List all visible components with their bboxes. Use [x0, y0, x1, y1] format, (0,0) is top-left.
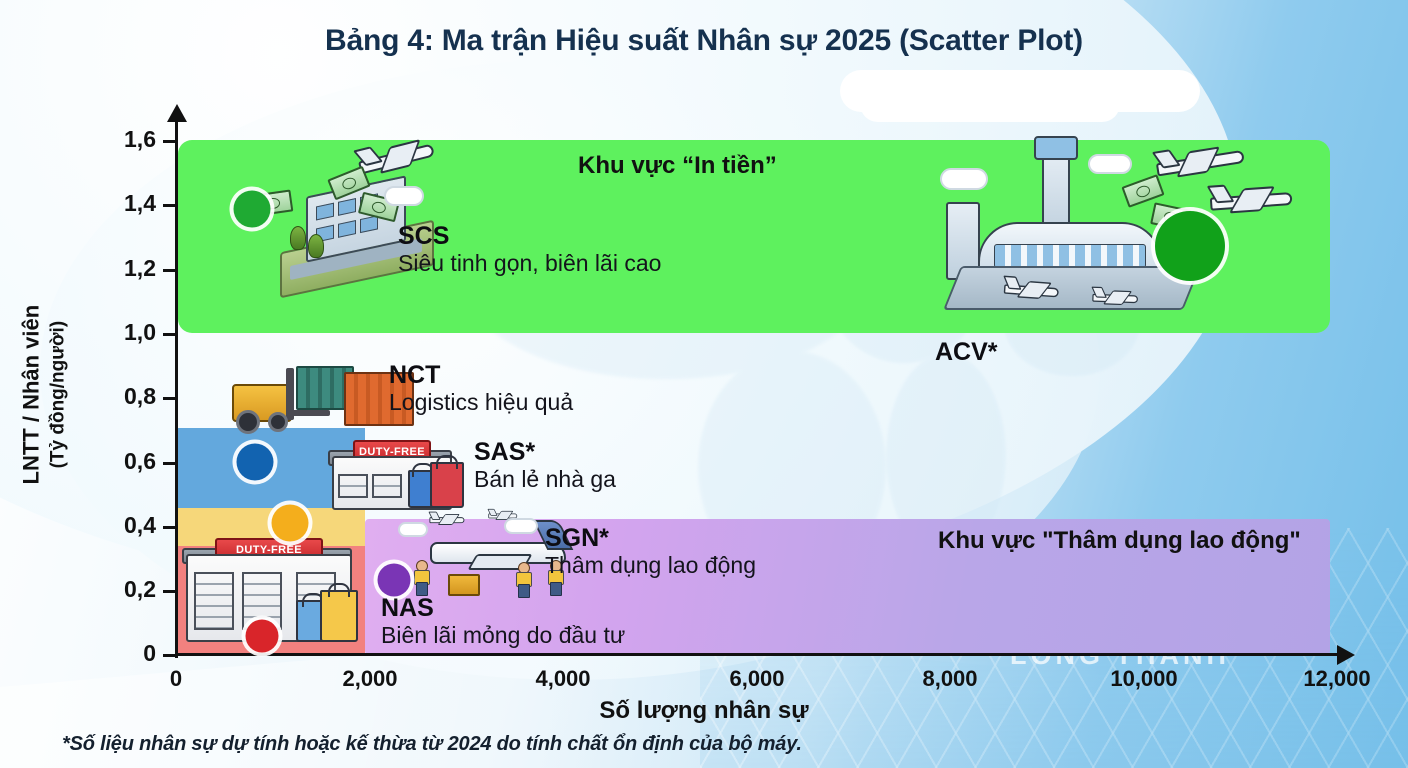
label-sgn: SGN* Thâm dụng lao động — [545, 524, 756, 580]
x-tick-label-3: 6,000 — [687, 666, 827, 692]
label-sas-desc: Bán lẻ nhà ga — [474, 466, 616, 494]
data-point-sas[interactable] — [272, 505, 309, 542]
shopping-bag-icon-red — [430, 462, 464, 508]
label-sgn-name: SGN* — [545, 524, 756, 552]
x-tick-label-4: 8,000 — [880, 666, 1020, 692]
data-point-nas[interactable] — [246, 620, 279, 653]
data-point-nct[interactable] — [237, 444, 274, 481]
plot-area: DUTY-FREE DUTY-FREE — [0, 0, 1408, 768]
y-tick-label-5: 1,0 — [86, 319, 156, 346]
y-tick-label-1: 0,2 — [86, 576, 156, 603]
y-tick-2 — [163, 526, 177, 529]
nct-logistics-illustration — [226, 366, 416, 446]
x-tick-label-0: 0 — [106, 666, 246, 692]
y-tick-label-3: 0,6 — [86, 448, 156, 475]
label-acv-name: ACV* — [935, 338, 998, 366]
y-tick-label-0: 0 — [86, 640, 156, 667]
y-tick-4 — [163, 397, 177, 400]
label-scs-name: SCS — [398, 222, 661, 250]
label-scs-desc: Siêu tinh gọn, biên lãi cao — [398, 250, 661, 278]
x-axis-arrow-icon — [1337, 645, 1355, 665]
x-tick-label-1: 2,000 — [300, 666, 440, 692]
x-axis-line — [175, 653, 1345, 656]
label-sgn-desc: Thâm dụng lao động — [545, 552, 756, 580]
y-tick-1 — [163, 590, 177, 593]
label-nas: NAS Biên lãi mỏng do đầu tư — [381, 594, 625, 650]
chart-footnote: *Số liệu nhân sự dự tính hoặc kế thừa từ… — [62, 733, 802, 756]
y-tick-7 — [163, 204, 177, 207]
y-tick-8 — [163, 140, 177, 143]
x-tick-label-6: 12,000 — [1267, 666, 1407, 692]
y-axis-title: LNTT / Nhân viên (Tỷ đồng/người) — [19, 245, 68, 545]
label-nct: NCT Logistics hiệu quả — [389, 361, 573, 417]
shopping-bag-icon-yellow — [320, 590, 358, 642]
label-acv: ACV* — [935, 338, 998, 366]
y-tick-label-7: 1,4 — [86, 190, 156, 217]
label-nas-name: NAS — [381, 594, 625, 622]
chart-canvas: LONG THANH Bảng 4: Ma trận Hiệu suất Nhâ… — [0, 0, 1408, 768]
label-nas-desc: Biên lãi mỏng do đầu tư — [381, 622, 625, 650]
y-axis-title-main: LNTT / Nhân viên — [18, 305, 43, 485]
y-tick-6 — [163, 269, 177, 272]
data-point-sgn[interactable] — [378, 564, 411, 597]
label-nct-name: NCT — [389, 361, 573, 389]
data-point-scs[interactable] — [234, 191, 271, 228]
data-point-acv[interactable] — [1155, 211, 1225, 281]
y-tick-label-2: 0,4 — [86, 512, 156, 539]
y-tick-0 — [163, 654, 177, 657]
y-tick-3 — [163, 462, 177, 465]
y-tick-label-8: 1,6 — [86, 126, 156, 153]
label-sas-name: SAS* — [474, 438, 616, 466]
label-scs: SCS Siêu tinh gọn, biên lãi cao — [398, 222, 661, 278]
x-tick-label-5: 10,000 — [1074, 666, 1214, 692]
x-axis-title: Số lượng nhân sự — [0, 697, 1408, 725]
y-axis-line — [175, 118, 178, 658]
x-tick-label-2: 4,000 — [493, 666, 633, 692]
region-label-labor-intensive: Khu vực "Thâm dụng lao động" — [938, 527, 1301, 555]
y-axis-arrow-icon — [167, 104, 187, 122]
y-tick-label-4: 0,8 — [86, 383, 156, 410]
y-tick-label-6: 1,2 — [86, 255, 156, 282]
label-nct-desc: Logistics hiệu quả — [389, 389, 573, 417]
label-sas: SAS* Bán lẻ nhà ga — [474, 438, 616, 494]
y-axis-title-sub: (Tỷ đồng/người) — [47, 321, 68, 469]
y-tick-5 — [163, 333, 177, 336]
region-label-money-printing: Khu vực “In tiền” — [578, 152, 777, 180]
acv-airport-illustration — [938, 148, 1298, 318]
